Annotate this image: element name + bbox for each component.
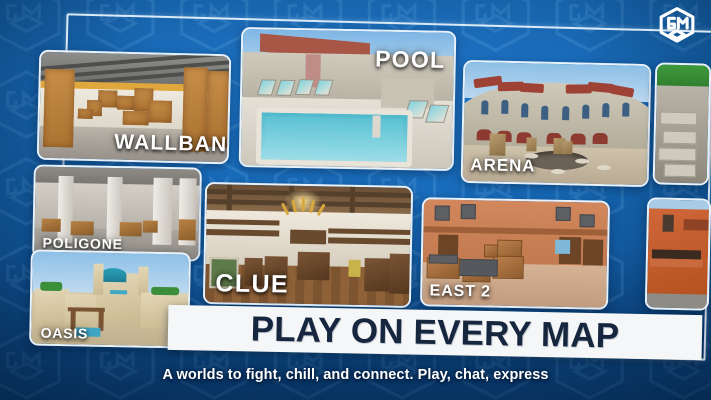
map-card-label-oasis: OASIS [41, 325, 89, 342]
map-card-edge-top[interactable] [653, 62, 711, 185]
headline-text: PLAY ON EVERY MAP [250, 309, 619, 356]
map-card-label-arena: ARENA [470, 155, 536, 176]
subtitle-text: A worlds to fight, chill, and connect. P… [162, 367, 548, 383]
map-card-label-pool: POOL [375, 45, 446, 73]
map-preview-edge-top [655, 64, 710, 183]
map-card-label-east2: EAST 2 [429, 282, 491, 301]
map-card-east2[interactable]: EAST 2 [420, 197, 610, 310]
map-card-wallbang[interactable]: WALLBANG [37, 50, 232, 165]
gm-hexagon-logo-icon [655, 6, 699, 50]
chandelier-icon [279, 190, 326, 219]
map-card-arena[interactable]: ARENA [461, 60, 652, 187]
map-card-label-clue: CLUE [215, 270, 289, 300]
subtitle-row: A worlds to fight, chill, and connect. P… [0, 366, 711, 384]
map-card-oasis[interactable]: OASIS [29, 249, 191, 348]
map-card-clue[interactable]: CLUE [203, 182, 413, 308]
map-preview-edge-bottom [647, 199, 709, 308]
map-card-label-wallbang: WALLBANG [114, 130, 231, 157]
map-card-edge-bottom[interactable] [645, 197, 711, 310]
map-card-pool[interactable]: POOL [239, 27, 457, 171]
map-card-poligone[interactable]: POLIGONE [32, 164, 202, 261]
